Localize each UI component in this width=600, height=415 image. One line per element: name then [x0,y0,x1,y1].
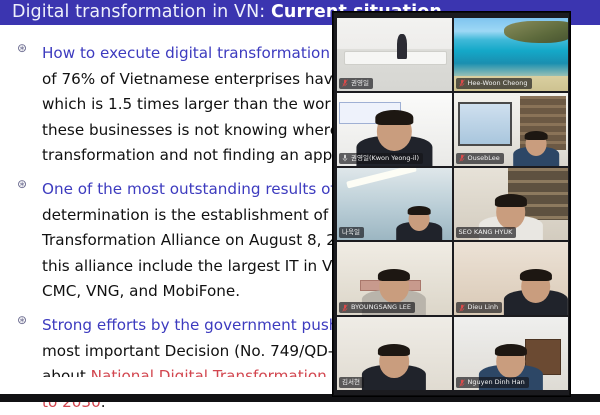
text-run: CMC, VNG, and MobiFone. [42,282,240,300]
participant-name-badge: Nguyen Dinh Han [456,377,529,388]
participant-name: 나욱일 [342,228,360,237]
participant-name: BYOUNGSANG LEE [351,303,411,312]
text-run: which is 1.5 times larger than the world [42,95,345,113]
text-run: of 76% of Vietnamese enterprises have [42,70,342,88]
participant-name-badge: OusebLee [456,153,504,164]
participant-name: OusebLee [468,154,500,163]
participant-name-badge: BYOUNGSANG LEE [339,302,415,313]
video-tile[interactable]: 김서현 [337,317,452,390]
video-tile[interactable]: 권영일 [337,18,452,91]
participant-name-badge: 권영일 [339,78,373,89]
bullet-marker-icon: ⊛ [14,313,30,327]
video-tile[interactable]: OusebLee [454,93,569,166]
text-run: Strong efforts by the government push f [42,316,349,334]
bullet-marker-icon: ⊛ [14,41,30,55]
video-tile[interactable]: SEO KANG HYUK [454,168,569,241]
participant-name-badge: Dieu Linh [456,302,503,313]
participant-figure [397,207,443,240]
video-tile-grid: 권영일Hee-Woon Cheong권영일(Kwon Yeong-il)Ouse… [337,18,568,390]
bullet-marker-icon: ⊛ [14,177,30,191]
participant-figure [513,132,559,165]
mic-muted-icon [342,304,348,312]
mic-muted-icon [459,379,465,387]
video-conference-panel[interactable]: 권영일Hee-Woon Cheong권영일(Kwon Yeong-il)Ouse… [333,12,570,396]
participant-figure [362,345,426,390]
text-run: transformation and not finding an appro [42,146,347,164]
text-run: determination is the establishment of th [42,206,349,224]
video-tile[interactable]: Dieu Linh [454,242,569,315]
video-tile[interactable]: BYOUNGSANG LEE [337,242,452,315]
text-run: One of the most outstanding results of [42,180,336,198]
video-tile[interactable]: Hee-Woon Cheong [454,18,569,91]
video-tile[interactable]: 권영일(Kwon Yeong-il) [337,93,452,166]
participant-name-badge: 나욱일 [339,227,364,238]
participant-figure [504,270,568,315]
video-tile[interactable]: 나욱일 [337,168,452,241]
text-run: these businesses is not knowing where to [42,121,359,139]
participant-name-badge: Hee-Woon Cheong [456,78,532,89]
mic-muted-icon [459,154,465,162]
mic-icon [342,154,348,162]
participant-name: 권영일(Kwon Yeong-il) [351,154,419,163]
participant-name-badge: SEO KANG HYUK [456,227,517,238]
video-tile[interactable]: Nguyen Dinh Han [454,317,569,390]
participant-name: Dieu Linh [468,303,499,312]
participant-name: 권영일 [351,79,369,88]
text-run: How to execute digital transformation in [42,44,349,62]
participant-name: SEO KANG HYUK [459,228,513,237]
text-run: this alliance include the largest IT in … [42,257,346,275]
participant-name: Hee-Woon Cheong [468,79,528,88]
text-run: most important Decision (No. 749/QD- [42,342,333,360]
participant-name: Nguyen Dinh Han [468,378,525,387]
mic-muted-icon [342,79,348,87]
participant-name-badge: 김서현 [339,377,364,388]
participant-name-badge: 권영일(Kwon Yeong-il) [339,153,423,164]
mic-muted-icon [459,79,465,87]
participant-name: 김서현 [342,378,360,387]
text-run: Transformation Alliance on August 8, 20 [42,231,346,249]
mic-muted-icon [459,304,465,312]
slide-title-plain: Digital transformation in VN: [12,2,271,22]
